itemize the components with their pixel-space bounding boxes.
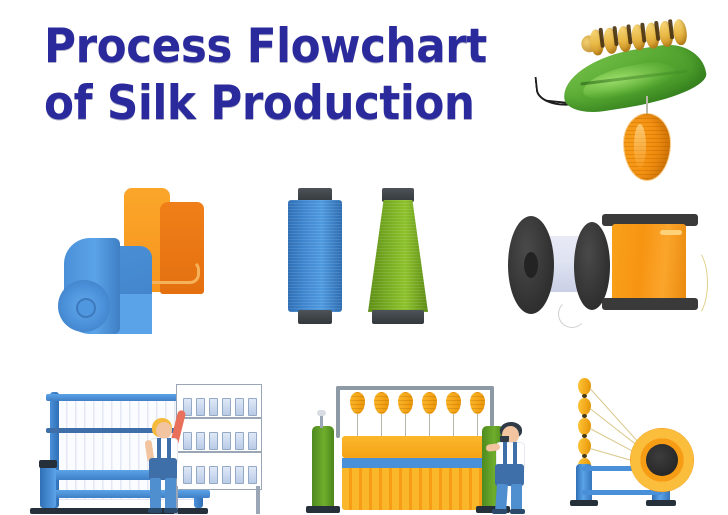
loom-top-beam	[342, 436, 488, 458]
machine-left-knob	[317, 410, 326, 416]
orange-bobbin-highlight	[660, 230, 682, 235]
loom-blue-band	[342, 458, 488, 468]
reel-lower-crossbar	[582, 490, 662, 495]
overhead-rail-left-leg	[336, 386, 340, 438]
worker-leg-right	[165, 478, 176, 510]
silk-reel-winder-icon	[548, 372, 718, 515]
cocoon-highlight	[634, 124, 646, 168]
green-cone-spool	[368, 200, 428, 312]
worker-shoe-right	[164, 508, 178, 513]
worker-shoe-right	[510, 509, 525, 514]
frame-drum-cap	[39, 460, 57, 468]
hanging-cocoon	[470, 392, 485, 414]
frame-base-bar	[30, 508, 208, 514]
worker-shoe-left	[148, 508, 162, 513]
worker-leg-right	[511, 484, 522, 512]
green-spool-top-cap	[382, 188, 414, 202]
blue-fabric-roll-end	[58, 280, 110, 332]
warping-frame-worker-icon	[28, 378, 268, 515]
silk-reeling-machine-icon	[300, 378, 530, 515]
reel-hub	[646, 444, 678, 476]
thread-spools-icon	[282, 186, 442, 341]
machine-left-lever	[320, 414, 323, 428]
title-line-1: Process Flowchart	[44, 18, 509, 75]
frame-left-drum	[40, 464, 56, 508]
silk-fabric-rolls-icon	[50, 182, 230, 344]
machine-left-foot	[306, 506, 340, 513]
poster-canvas: Process Flowchart of Silk Production	[0, 0, 728, 515]
hanging-cocoon	[374, 392, 389, 414]
silk-cocoon-icon	[624, 114, 670, 180]
worker-shoe-left	[492, 509, 507, 514]
overhead-rail	[336, 386, 494, 390]
shelf-right-leg	[256, 486, 260, 514]
green-spool-bottom-cap	[372, 310, 424, 324]
silkworm-leaf-cocoon-icon	[536, 14, 728, 178]
worker-overall-strap-right	[513, 442, 517, 466]
worker-overalls	[149, 458, 177, 480]
spool-shelf-rack	[176, 384, 262, 490]
title-line-2: of Silk Production	[44, 75, 509, 132]
hanging-cocoon	[350, 392, 365, 414]
worker-head	[156, 422, 172, 439]
orange-bobbin-loose-thread	[678, 248, 708, 318]
worker-overall-strap-left	[503, 442, 507, 466]
worker-leg-left	[150, 478, 161, 510]
white-bobbin-axle-hole	[524, 252, 538, 278]
worker-overall-strap-right	[167, 438, 171, 460]
machine-left-pillar	[312, 426, 334, 508]
loom-silk-fringe	[342, 468, 488, 510]
reel-right-foot	[646, 500, 676, 506]
white-bobbin-right-flange	[574, 222, 610, 310]
hanging-cocoon	[398, 392, 413, 414]
frame-beam-lower	[42, 490, 210, 498]
white-bobbin-loose-thread	[558, 300, 586, 328]
worker-overall-strap-left	[157, 438, 161, 460]
poster-title: Process Flowchart of Silk Production	[44, 18, 544, 132]
worker-overalls	[495, 464, 524, 486]
thread-bobbins-icon	[500, 196, 700, 346]
blue-cylinder-spool	[288, 200, 342, 312]
orange-bobbin-thread-body	[612, 224, 686, 300]
blue-spool-bottom-cap	[298, 310, 332, 324]
reel-left-foot	[570, 500, 598, 506]
hanging-cocoon	[422, 392, 437, 414]
hanging-cocoon	[446, 392, 461, 414]
